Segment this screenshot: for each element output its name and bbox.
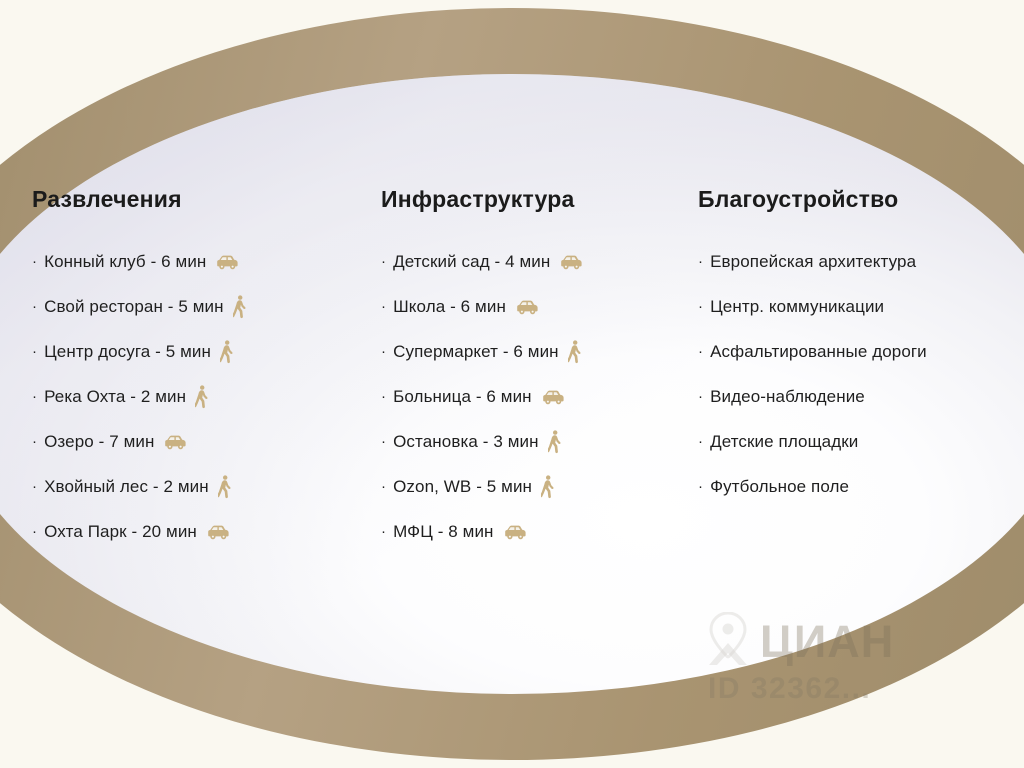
amenity-label: Конный клуб - 6 мин bbox=[44, 252, 206, 272]
amenity-item: ·Футбольное поле bbox=[698, 474, 1008, 500]
amenities-column: Благоустройство·Европейская архитектура·… bbox=[698, 186, 1008, 519]
bullet-marker: · bbox=[381, 434, 386, 449]
amenity-item: ·Асфальтированные дороги bbox=[698, 339, 1008, 365]
amenity-label: Футбольное поле bbox=[710, 477, 849, 497]
bullet-marker: · bbox=[32, 524, 37, 539]
bullet-marker: · bbox=[381, 389, 386, 404]
amenity-item: ·Река Охта - 2 мин bbox=[32, 384, 362, 410]
amenity-item: ·Свой ресторан - 5 мин bbox=[32, 294, 362, 320]
amenity-item: ·Супермаркет - 6 мин bbox=[381, 339, 681, 365]
car-icon bbox=[503, 524, 527, 540]
amenity-item: ·Детские площадки bbox=[698, 429, 1008, 455]
amenity-item: ·Центр. коммуникации bbox=[698, 294, 1008, 320]
amenity-label: Асфальтированные дороги bbox=[710, 342, 927, 362]
bullet-marker: · bbox=[698, 389, 703, 404]
bullet-marker: · bbox=[698, 299, 703, 314]
walking-person-icon bbox=[218, 475, 231, 499]
bullet-marker: · bbox=[381, 524, 386, 539]
bullet-marker: · bbox=[698, 254, 703, 269]
walking-person-icon bbox=[541, 475, 554, 499]
car-icon bbox=[163, 434, 187, 450]
amenities-column: Развлечения·Конный клуб - 6 мин·Свой рес… bbox=[32, 186, 362, 564]
amenity-item: ·Озеро - 7 мин bbox=[32, 429, 362, 455]
car-icon bbox=[559, 254, 583, 270]
amenity-label: Детские площадки bbox=[710, 432, 858, 452]
amenity-item: ·Школа - 6 мин bbox=[381, 294, 681, 320]
amenity-item: ·Остановка - 3 мин bbox=[381, 429, 681, 455]
amenities-column: Инфраструктура·Детский сад - 4 мин·Школа… bbox=[381, 186, 681, 564]
bullet-marker: · bbox=[381, 344, 386, 359]
amenity-label: Центр. коммуникации bbox=[710, 297, 884, 317]
car-icon bbox=[515, 299, 539, 315]
amenity-item: ·МФЦ - 8 мин bbox=[381, 519, 681, 545]
amenity-item: ·Хвойный лес - 2 мин bbox=[32, 474, 362, 500]
amenity-label: Охта Парк - 20 мин bbox=[44, 522, 197, 542]
bullet-marker: · bbox=[698, 434, 703, 449]
bullet-marker: · bbox=[32, 434, 37, 449]
amenity-label: Хвойный лес - 2 мин bbox=[44, 477, 209, 497]
amenity-label: Видео-наблюдение bbox=[710, 387, 865, 407]
bullet-marker: · bbox=[32, 344, 37, 359]
amenities-columns: Развлечения·Конный клуб - 6 мин·Свой рес… bbox=[0, 0, 1024, 768]
bullet-marker: · bbox=[698, 479, 703, 494]
bullet-marker: · bbox=[381, 254, 386, 269]
car-icon bbox=[215, 254, 239, 270]
amenity-label: Остановка - 3 мин bbox=[393, 432, 538, 452]
amenity-label: Европейская архитектура bbox=[710, 252, 916, 272]
amenity-item: ·Детский сад - 4 мин bbox=[381, 249, 681, 275]
amenity-label: Больница - 6 мин bbox=[393, 387, 532, 407]
walking-person-icon bbox=[548, 430, 561, 454]
walking-person-icon bbox=[233, 295, 246, 319]
car-icon bbox=[541, 389, 565, 405]
bullet-marker: · bbox=[381, 299, 386, 314]
amenity-label: Центр досуга - 5 мин bbox=[44, 342, 211, 362]
car-icon bbox=[206, 524, 230, 540]
amenity-label: МФЦ - 8 мин bbox=[393, 522, 493, 542]
infographic-slide: Развлечения·Конный клуб - 6 мин·Свой рес… bbox=[0, 0, 1024, 768]
amenity-label: Река Охта - 2 мин bbox=[44, 387, 186, 407]
amenity-label: Озеро - 7 мин bbox=[44, 432, 154, 452]
amenity-item: ·Европейская архитектура bbox=[698, 249, 1008, 275]
column-title: Благоустройство bbox=[698, 186, 1008, 213]
amenity-item: ·Центр досуга - 5 мин bbox=[32, 339, 362, 365]
bullet-marker: · bbox=[32, 254, 37, 269]
amenity-label: Супермаркет - 6 мин bbox=[393, 342, 559, 362]
amenity-item: ·Охта Парк - 20 мин bbox=[32, 519, 362, 545]
amenity-item: ·Видео-наблюдение bbox=[698, 384, 1008, 410]
amenity-label: Свой ресторан - 5 мин bbox=[44, 297, 224, 317]
amenity-item: ·Ozon, WB - 5 мин bbox=[381, 474, 681, 500]
bullet-marker: · bbox=[698, 344, 703, 359]
bullet-marker: · bbox=[32, 479, 37, 494]
bullet-marker: · bbox=[32, 389, 37, 404]
amenity-label: Детский сад - 4 мин bbox=[393, 252, 550, 272]
column-title: Инфраструктура bbox=[381, 186, 681, 213]
walking-person-icon bbox=[195, 385, 208, 409]
amenity-item: ·Больница - 6 мин bbox=[381, 384, 681, 410]
walking-person-icon bbox=[568, 340, 581, 364]
amenity-item: ·Конный клуб - 6 мин bbox=[32, 249, 362, 275]
column-title: Развлечения bbox=[32, 186, 362, 213]
bullet-marker: · bbox=[381, 479, 386, 494]
amenity-label: Школа - 6 мин bbox=[393, 297, 506, 317]
bullet-marker: · bbox=[32, 299, 37, 314]
amenity-label: Ozon, WB - 5 мин bbox=[393, 477, 532, 497]
walking-person-icon bbox=[220, 340, 233, 364]
